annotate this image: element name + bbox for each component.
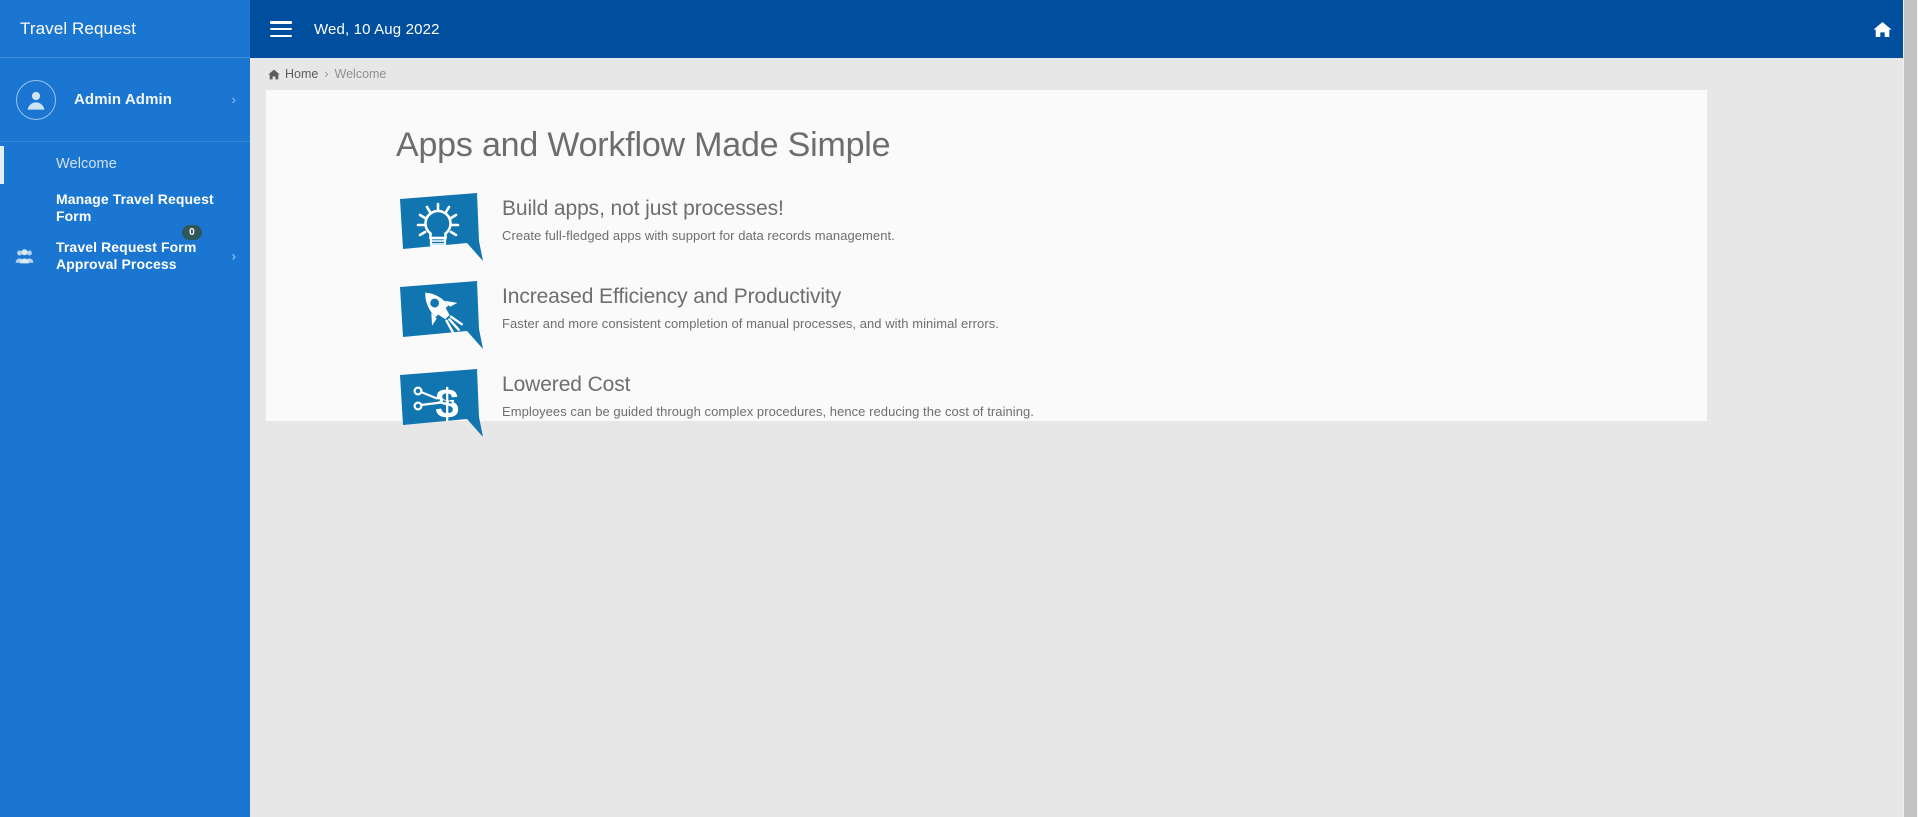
home-icon <box>268 69 280 80</box>
rocket-speech-bubble-icon <box>396 279 484 351</box>
feature-description: Faster and more consistent completion of… <box>502 316 999 331</box>
sidebar-item-manage-travel-request-form[interactable]: Manage Travel Request Form <box>0 184 250 232</box>
feature-text: Lowered Cost Employees can be guided thr… <box>502 367 1034 419</box>
breadcrumb-separator: › <box>324 67 328 81</box>
feature-title: Lowered Cost <box>502 373 1034 397</box>
sidebar-menu: Welcome Manage Travel Request Form 0 <box>0 142 250 280</box>
feature-row: Build apps, not just processes! Create f… <box>396 191 1667 263</box>
sidebar-brand-label: Travel Request <box>20 19 136 39</box>
home-icon[interactable] <box>1873 21 1892 38</box>
feature-row: $ Lowere <box>396 367 1667 439</box>
feature-row: Increased Efficiency and Productivity Fa… <box>396 279 1667 351</box>
breadcrumb-current: Welcome <box>335 67 387 81</box>
feature-title: Build apps, not just processes! <box>502 197 895 221</box>
user-name: Admin Admin <box>74 91 172 108</box>
sidebar-item-welcome[interactable]: Welcome <box>0 146 250 184</box>
topbar: Wed, 10 Aug 2022 <box>250 0 1918 58</box>
page-scrollbar-thumb[interactable] <box>1904 0 1917 817</box>
users-group-icon <box>14 246 34 266</box>
chevron-right-icon: › <box>232 93 236 106</box>
dollar-scissors-speech-bubble-icon: $ <box>396 367 484 439</box>
sidebar-brand[interactable]: Travel Request <box>0 0 250 58</box>
sidebar-item-label: Travel Request Form Approval Process <box>56 239 224 273</box>
sidebar: Travel Request Admin Admin › Welcome Man… <box>0 0 250 817</box>
feature-text: Increased Efficiency and Productivity Fa… <box>502 279 999 331</box>
feature-title: Increased Efficiency and Productivity <box>502 285 999 309</box>
user-panel[interactable]: Admin Admin › <box>0 58 250 142</box>
breadcrumb-home-link[interactable]: Home <box>285 67 318 81</box>
feature-description: Create full-fledged apps with support fo… <box>502 228 895 243</box>
hamburger-menu-icon[interactable] <box>270 21 292 37</box>
breadcrumb: Home › Welcome <box>250 58 1918 90</box>
sidebar-item-label: Welcome <box>56 156 117 174</box>
sidebar-item-badge: 0 <box>182 225 202 240</box>
welcome-card: Apps and Workflow Made Simple <box>266 90 1707 421</box>
content-area: Apps and Workflow Made Simple <box>250 90 1918 817</box>
lightbulb-speech-bubble-icon <box>396 191 484 263</box>
user-avatar-icon <box>16 80 56 120</box>
main-region: Wed, 10 Aug 2022 Home › Welcome Apps and… <box>250 0 1918 817</box>
chevron-right-icon: › <box>232 250 236 263</box>
topbar-date: Wed, 10 Aug 2022 <box>314 21 440 38</box>
feature-text: Build apps, not just processes! Create f… <box>502 191 895 243</box>
feature-description: Employees can be guided through complex … <box>502 404 1034 419</box>
page-title: Apps and Workflow Made Simple <box>396 126 1667 165</box>
page-scrollbar[interactable] <box>1903 0 1918 817</box>
app-root: Travel Request Admin Admin › Welcome Man… <box>0 0 1918 817</box>
sidebar-item-label: Manage Travel Request Form <box>56 191 224 225</box>
sidebar-item-travel-request-form-approval-process[interactable]: 0 Travel Request Form Approval Process › <box>0 232 250 280</box>
